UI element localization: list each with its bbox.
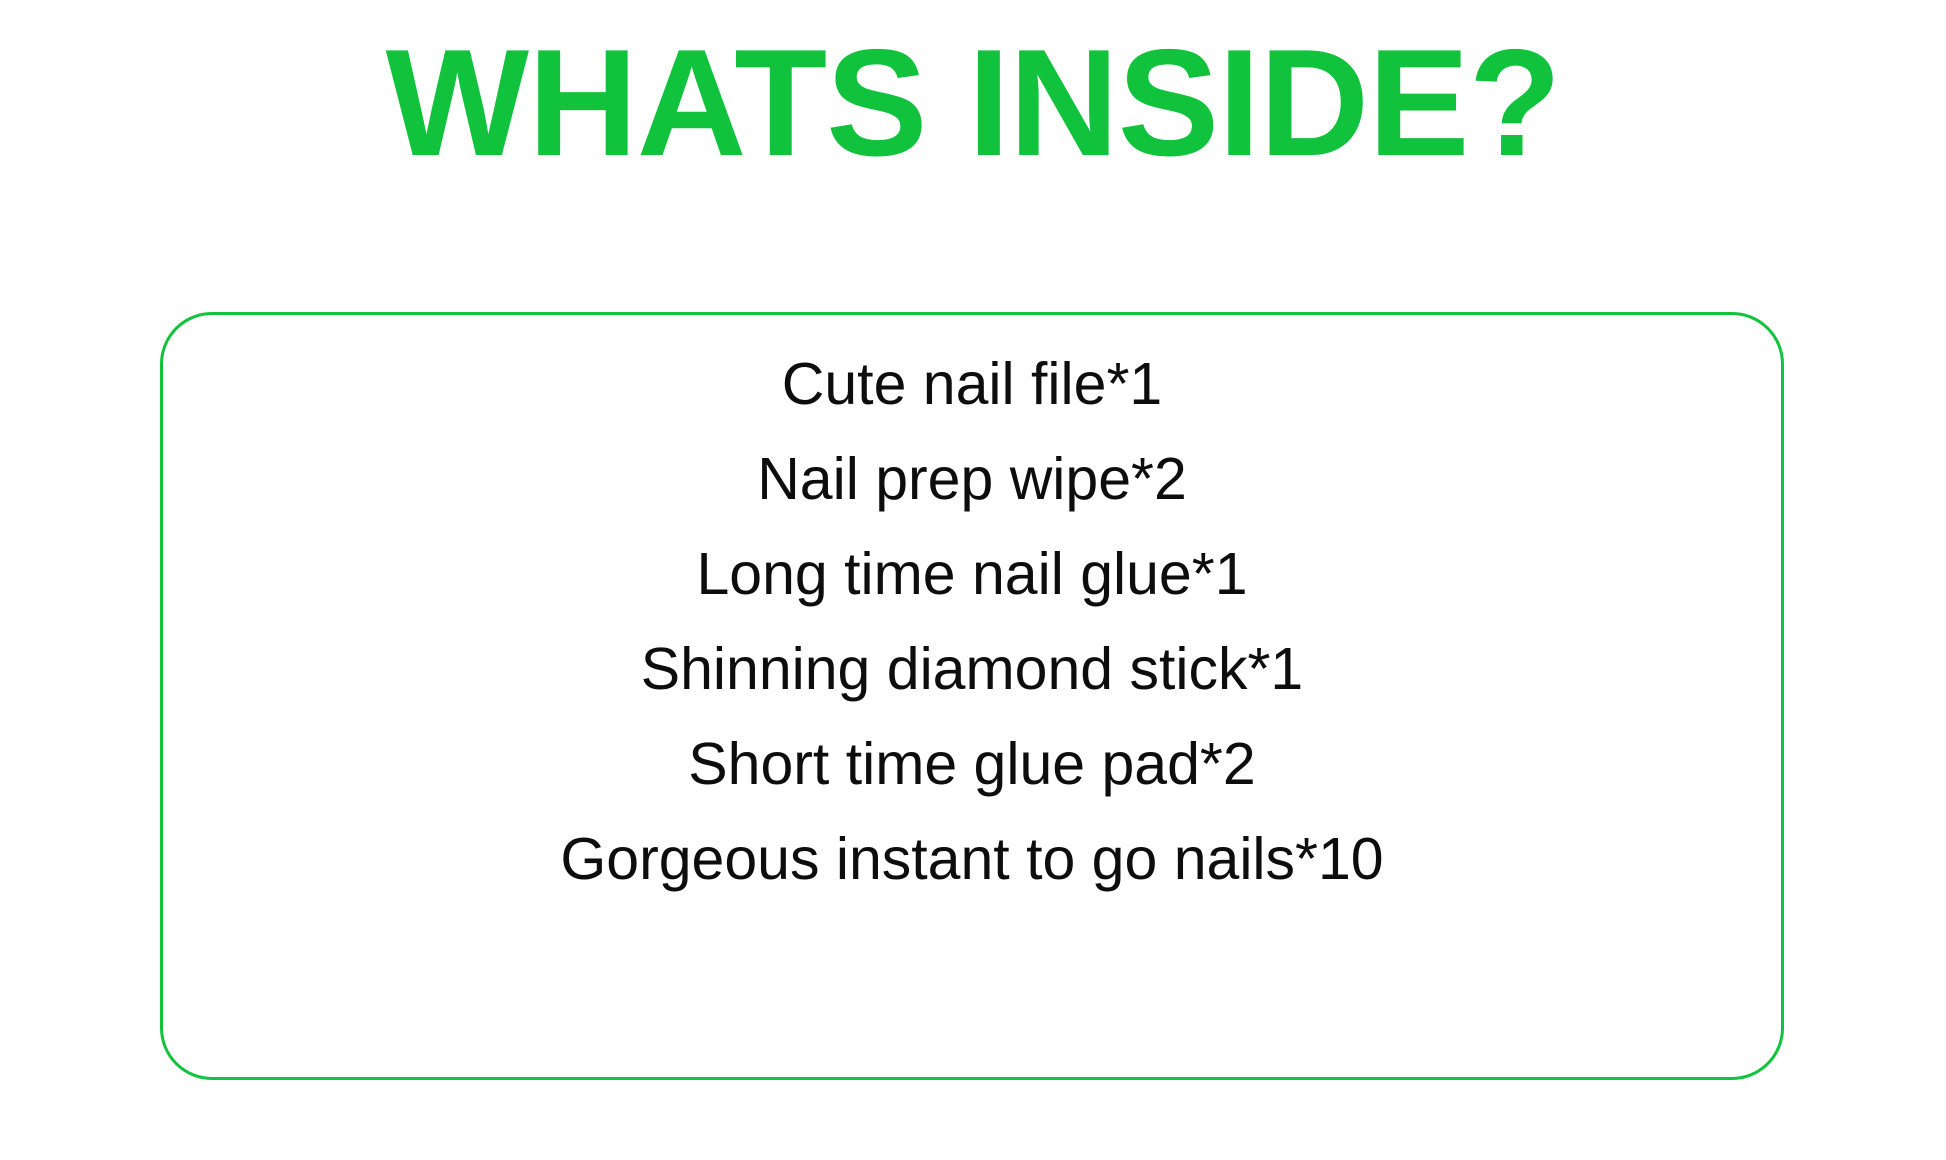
contents-list: Cute nail file*1 Nail prep wipe*2 Long t… — [163, 337, 1781, 907]
list-item: Long time nail glue*1 — [163, 527, 1781, 622]
list-item: Short time glue pad*2 — [163, 717, 1781, 812]
page-title: WHATS INSIDE? — [386, 24, 1561, 184]
list-item: Cute nail file*1 — [163, 337, 1781, 432]
list-item: Shinning diamond stick*1 — [163, 622, 1781, 717]
page-title-container: WHATS INSIDE? — [0, 24, 1946, 184]
contents-panel: Cute nail file*1 Nail prep wipe*2 Long t… — [160, 312, 1784, 1080]
whats-inside-poster: WHATS INSIDE? Cute nail file*1 Nail prep… — [0, 0, 1946, 1160]
list-item: Nail prep wipe*2 — [163, 432, 1781, 527]
list-item: Gorgeous instant to go nails*10 — [163, 812, 1781, 907]
